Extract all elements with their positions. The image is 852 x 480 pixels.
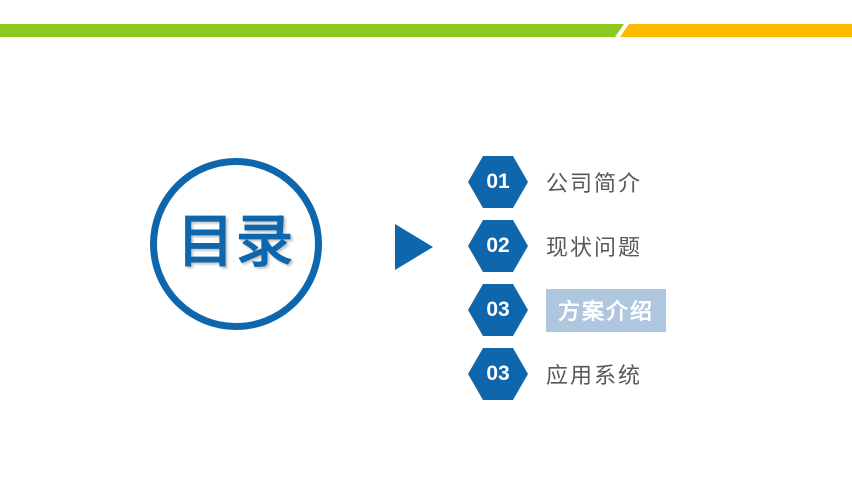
hexagon-badge: 03	[468, 284, 528, 336]
hexagon-badge: 02	[468, 220, 528, 272]
agenda-item-1[interactable]: 01 公司简介	[468, 150, 808, 214]
agenda-item-label: 应用系统	[546, 358, 642, 390]
agenda-item-4[interactable]: 03 应用系统	[468, 342, 808, 406]
agenda-item-number: 01	[486, 171, 509, 193]
slide-canvas: 目录 01 公司简介 02 现状问题 03 方案介绍 03 应用	[0, 0, 852, 480]
agenda-item-number: 02	[486, 235, 509, 257]
hexagon-badge: 03	[468, 348, 528, 400]
hexagon-badge: 01	[468, 156, 528, 208]
agenda-item-number: 03	[486, 363, 509, 385]
top-accent-bar	[0, 24, 852, 37]
agenda-title-circle: 目录	[150, 158, 322, 330]
play-triangle-icon	[395, 224, 433, 270]
green-accent-segment	[0, 24, 624, 37]
agenda-list: 01 公司简介 02 现状问题 03 方案介绍 03 应用系统	[468, 150, 808, 406]
agenda-item-label: 公司简介	[546, 166, 642, 198]
yellow-accent-segment	[620, 24, 852, 37]
agenda-item-3[interactable]: 03 方案介绍	[468, 278, 808, 342]
agenda-item-2[interactable]: 02 现状问题	[468, 214, 808, 278]
agenda-item-label-active: 方案介绍	[546, 289, 666, 332]
agenda-item-label: 现状问题	[546, 230, 642, 262]
agenda-item-number: 03	[486, 299, 509, 321]
agenda-title-text: 目录	[150, 158, 322, 330]
